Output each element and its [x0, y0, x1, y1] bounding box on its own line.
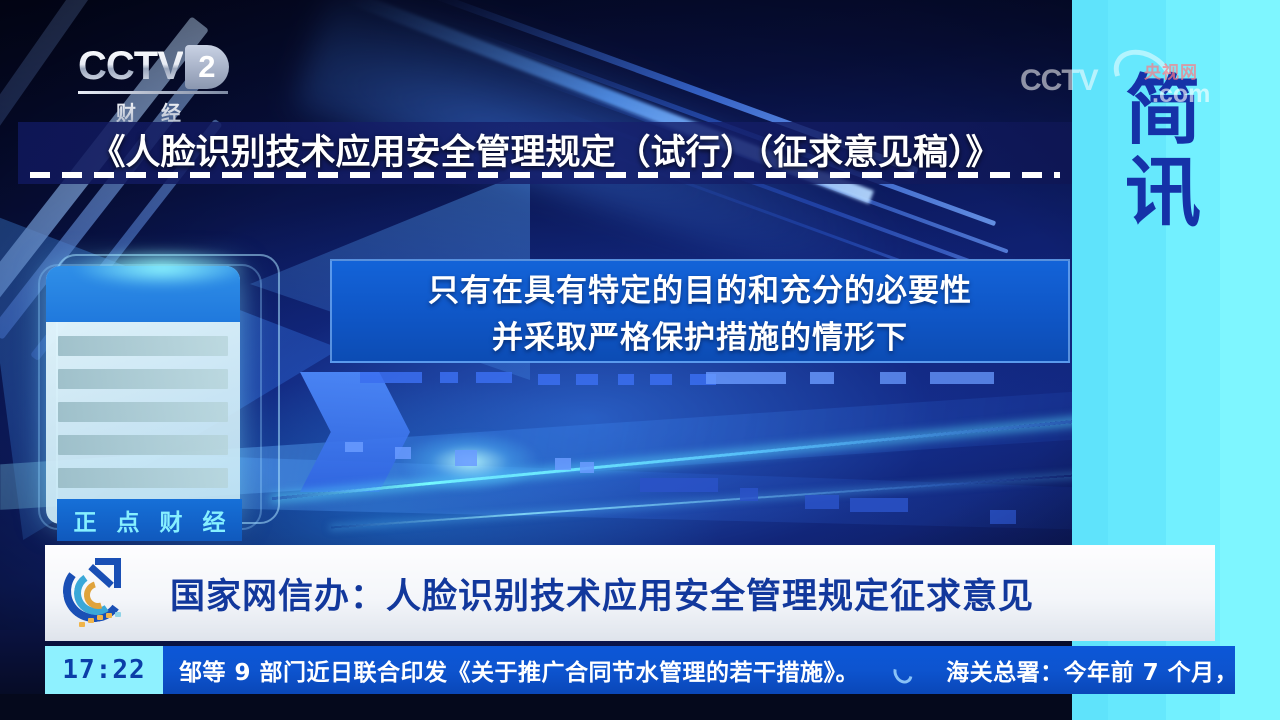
program-badge-label: 正 点 财 经: [67, 503, 231, 537]
program-badge: 正 点 财 经: [57, 499, 242, 541]
bottom-letterbox: [0, 694, 1072, 720]
ticker-item-1: 邹等 9 部门近日联合印发《关于推广合同节水管理的若干措施》。: [179, 660, 859, 686]
card-text-line: [58, 369, 228, 389]
cctv2-logo: CCTV 2 财 经: [78, 44, 258, 118]
logo-row: CCTV 2: [78, 44, 258, 89]
card-text-line: [58, 402, 228, 422]
broadcast-screen: CCTV 2 财 经 《人脸识别技术应用安全管理规定（试行）（征求意见稿）》 只…: [0, 0, 1280, 720]
card-glow: [72, 248, 252, 288]
finance-channel-arrow-icon: [61, 556, 139, 634]
document-card-graphic: [42, 262, 272, 537]
ticker-content: 邹等 9 部门近日联合印发《关于推广合同节水管理的若干措施》。 海关总署：今年前…: [179, 653, 1235, 687]
sidebar-band: [1220, 0, 1280, 720]
logo-divider: [78, 91, 228, 94]
card-face: [46, 266, 240, 524]
dot-trail: [79, 612, 125, 632]
lower-third-panel: 国家网信办：人脸识别技术应用安全管理规定征求意见: [45, 545, 1215, 641]
title-dashed-underline: [30, 172, 1060, 178]
card-text-line: [58, 336, 228, 356]
logo-channel-number: 2: [185, 45, 229, 89]
card-text-line: [58, 468, 228, 488]
news-ticker: 17:22 邹等 9 部门近日联合印发《关于推广合同节水管理的若干措施》。 海关…: [45, 646, 1235, 694]
arrow-up-icon: [95, 558, 123, 588]
sidebar-title: 简讯: [1108, 70, 1218, 234]
quote-line-1: 只有在具有特定的目的和充分的必要性: [428, 265, 972, 310]
card-text-line: [58, 435, 228, 455]
logo-cctv-text: CCTV: [78, 44, 183, 89]
quote-line-2: 并采取严格保护措施的情形下: [492, 312, 908, 357]
card-body: [46, 322, 240, 488]
ticker-clock: 17:22: [45, 646, 163, 694]
document-title: 《人脸识别技术应用安全管理规定（试行）（征求意见稿）》: [18, 124, 1073, 174]
news-headline: 国家网信办：人脸识别技术应用安全管理规定征求意见: [170, 568, 1034, 619]
ticker-separator-icon: [889, 659, 916, 687]
quote-box: 只有在具有特定的目的和充分的必要性 并采取严格保护措施的情形下: [330, 259, 1070, 363]
ticker-item-2: 海关总署：今年前 7 个月，: [946, 660, 1235, 686]
